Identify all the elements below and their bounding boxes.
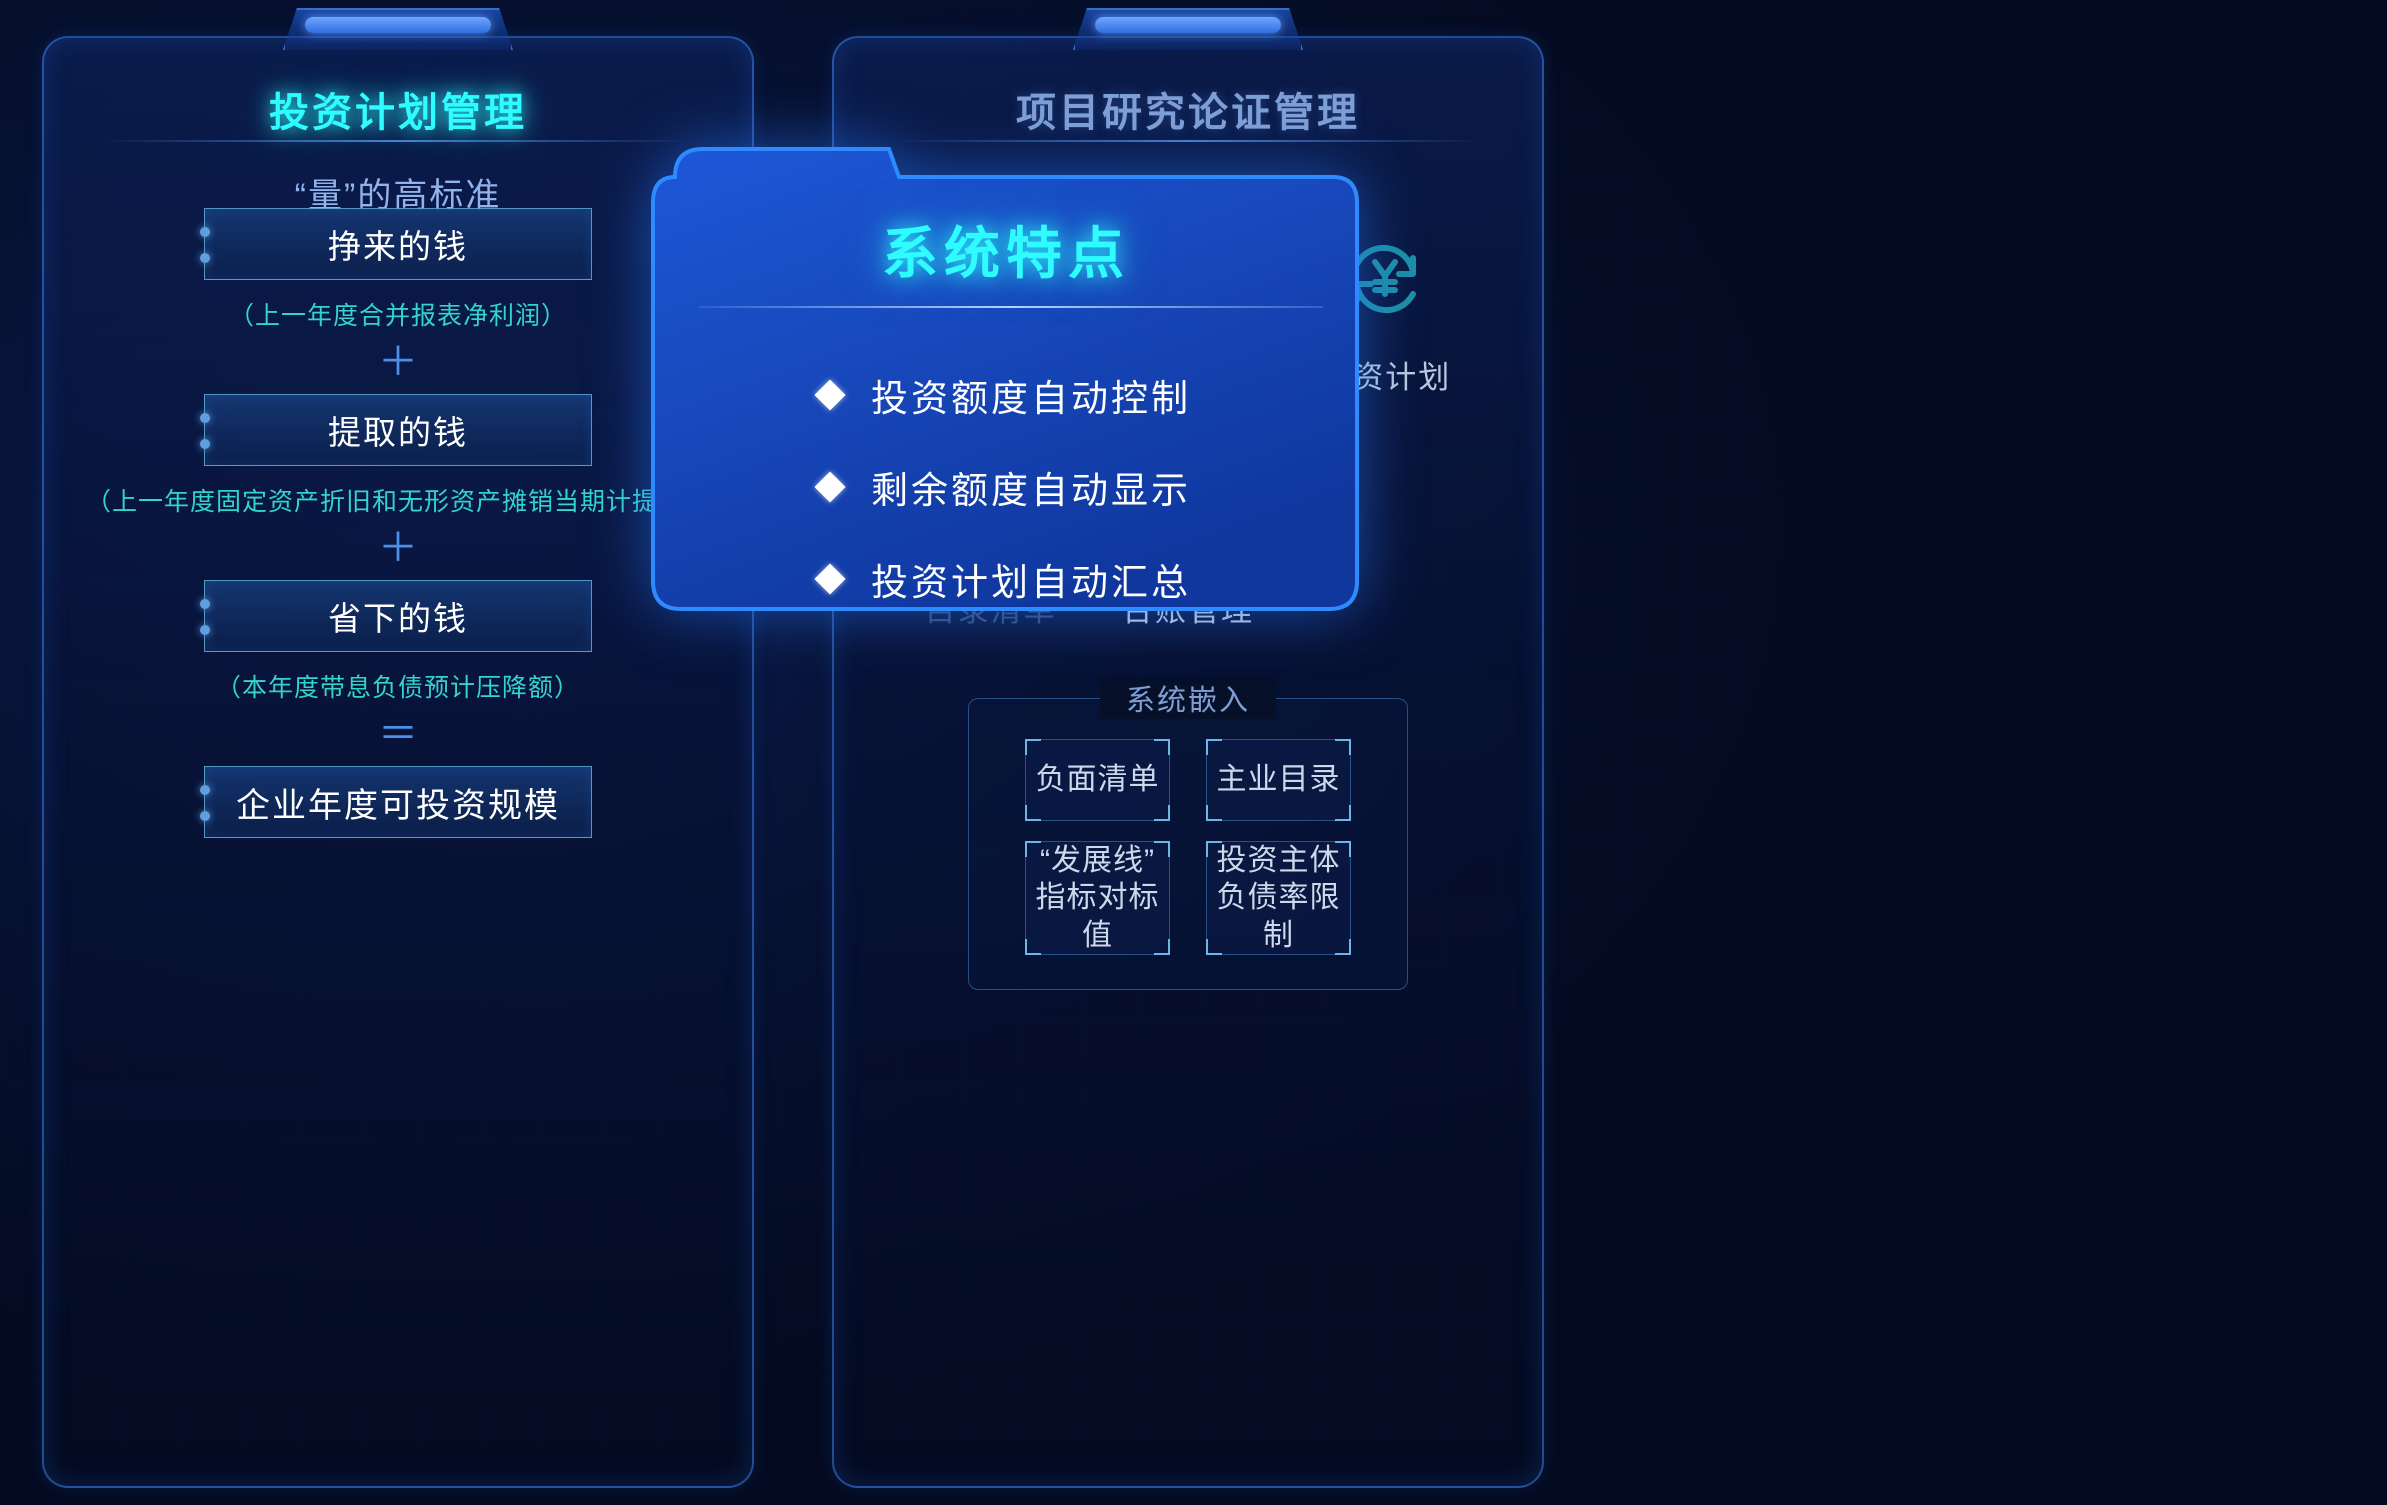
modal-title: 系统特点 <box>651 209 1361 290</box>
flow-box-label: 省下的钱 <box>328 592 468 640</box>
tab-handle-bar <box>1095 17 1281 33</box>
corner-mark-icon <box>1206 841 1222 857</box>
left-panel-tab <box>283 8 513 50</box>
investment-formula-flow: 挣来的钱 （上一年度合并报表净利润） ＋ 提取的钱 （上一年度固定资产折旧和无形… <box>42 208 754 838</box>
anchor-dot-icon <box>200 811 210 821</box>
right-panel-tab <box>1073 8 1303 50</box>
anchor-dot-icon <box>200 599 210 609</box>
anchor-dot-icon <box>200 785 210 795</box>
left-panel-divider <box>102 140 694 142</box>
flow-note-earned: （上一年度合并报表净利润） <box>42 296 754 332</box>
anchor-dot-icon <box>200 413 210 423</box>
embed-cell-main-business-catalog[interactable]: 主业目录 <box>1206 739 1351 821</box>
flow-box-earned[interactable]: 挣来的钱 <box>204 208 592 280</box>
diamond-bullet-icon <box>814 563 845 594</box>
embed-cell-negative-list[interactable]: 负面清单 <box>1025 739 1170 821</box>
corner-mark-icon <box>1335 841 1351 857</box>
corner-mark-icon <box>1154 939 1170 955</box>
corner-mark-icon <box>1206 939 1222 955</box>
slide-canvas: 投资计划管理 “量”的高标准 挣来的钱 （上一年度合并报表净利润） ＋ 提取的钱… <box>0 0 2387 1505</box>
flow-operator-plus: ＋ <box>42 342 754 382</box>
corner-mark-icon <box>1154 841 1170 857</box>
left-panel-title: 投资计划管理 <box>42 80 754 138</box>
anchor-dot-icon <box>200 625 210 635</box>
modal-content: 系统特点 投资额度自动控制 剩余额度自动显示 投资计划自动汇总 <box>651 143 1361 619</box>
embed-cell-development-line[interactable]: “发展线” 指标对标值 <box>1025 841 1170 956</box>
flow-box-label: 企业年度可投资规模 <box>236 778 560 827</box>
modal-divider <box>699 306 1323 308</box>
system-embed-legend: 系统嵌入 <box>1100 677 1276 719</box>
flow-box-saved[interactable]: 省下的钱 <box>204 580 592 652</box>
embed-cell-line1: 主业目录 <box>1217 761 1341 799</box>
right-panel-title: 项目研究论证管理 <box>832 80 1544 138</box>
feature-label: 剩余额度自动显示 <box>871 460 1191 514</box>
flow-note-saved: （本年度带息负债预计压降额） <box>42 668 754 704</box>
anchor-dot-icon <box>200 439 210 449</box>
flow-box-withdrawn[interactable]: 提取的钱 <box>204 394 592 466</box>
corner-mark-icon <box>1206 739 1222 755</box>
corner-mark-icon <box>1335 939 1351 955</box>
embed-cell-line2: 负债率限制 <box>1207 879 1350 954</box>
flow-operator-equals: ＝ <box>42 714 754 754</box>
feature-item-plan-summary[interactable]: 投资计划自动汇总 <box>819 549 1321 609</box>
embed-cell-line1: 投资主体 <box>1207 842 1350 880</box>
feature-item-remaining-quota[interactable]: 剩余额度自动显示 <box>819 457 1321 517</box>
corner-mark-icon <box>1154 739 1170 755</box>
anchor-dot-icon <box>200 227 210 237</box>
diamond-bullet-icon <box>814 379 845 410</box>
feature-label: 投资额度自动控制 <box>871 368 1191 422</box>
system-embed-group: 系统嵌入 负面清单 <box>968 698 1408 990</box>
corner-mark-icon <box>1025 939 1041 955</box>
embed-cell-line1: “发展线” <box>1026 842 1169 880</box>
corner-mark-icon <box>1025 739 1041 755</box>
left-panel: 投资计划管理 “量”的高标准 挣来的钱 （上一年度合并报表净利润） ＋ 提取的钱… <box>42 8 754 1488</box>
flow-box-label: 提取的钱 <box>328 406 468 454</box>
corner-mark-icon <box>1335 739 1351 755</box>
flow-box-label: 挣来的钱 <box>328 220 468 268</box>
system-embed-grid: 负面清单 主业目录 <box>1025 739 1351 955</box>
flow-box-total[interactable]: 企业年度可投资规模 <box>204 766 592 838</box>
embed-cell-line2: 指标对标值 <box>1026 879 1169 954</box>
corner-mark-icon <box>1025 805 1041 821</box>
corner-mark-icon <box>1335 805 1351 821</box>
corner-mark-icon <box>1025 841 1041 857</box>
right-panel-divider <box>892 140 1484 142</box>
corner-mark-icon <box>1206 805 1222 821</box>
diamond-bullet-icon <box>814 471 845 502</box>
tab-handle-bar <box>305 17 491 33</box>
embed-cell-debt-ratio-limit[interactable]: 投资主体 负债率限制 <box>1206 841 1351 956</box>
embed-cell-line1: 负面清单 <box>1036 761 1160 799</box>
corner-mark-icon <box>1154 805 1170 821</box>
anchor-dot-icon <box>200 253 210 263</box>
flow-operator-plus: ＋ <box>42 528 754 568</box>
system-features-modal[interactable]: 系统特点 投资额度自动控制 剩余额度自动显示 投资计划自动汇总 <box>651 143 1361 619</box>
flow-note-withdrawn: （上一年度固定资产折旧和无形资产摊销当期计提数） <box>42 482 754 518</box>
modal-feature-list: 投资额度自动控制 剩余额度自动显示 投资计划自动汇总 <box>819 365 1321 641</box>
feature-label: 投资计划自动汇总 <box>871 552 1191 606</box>
feature-item-quota-control[interactable]: 投资额度自动控制 <box>819 365 1321 425</box>
